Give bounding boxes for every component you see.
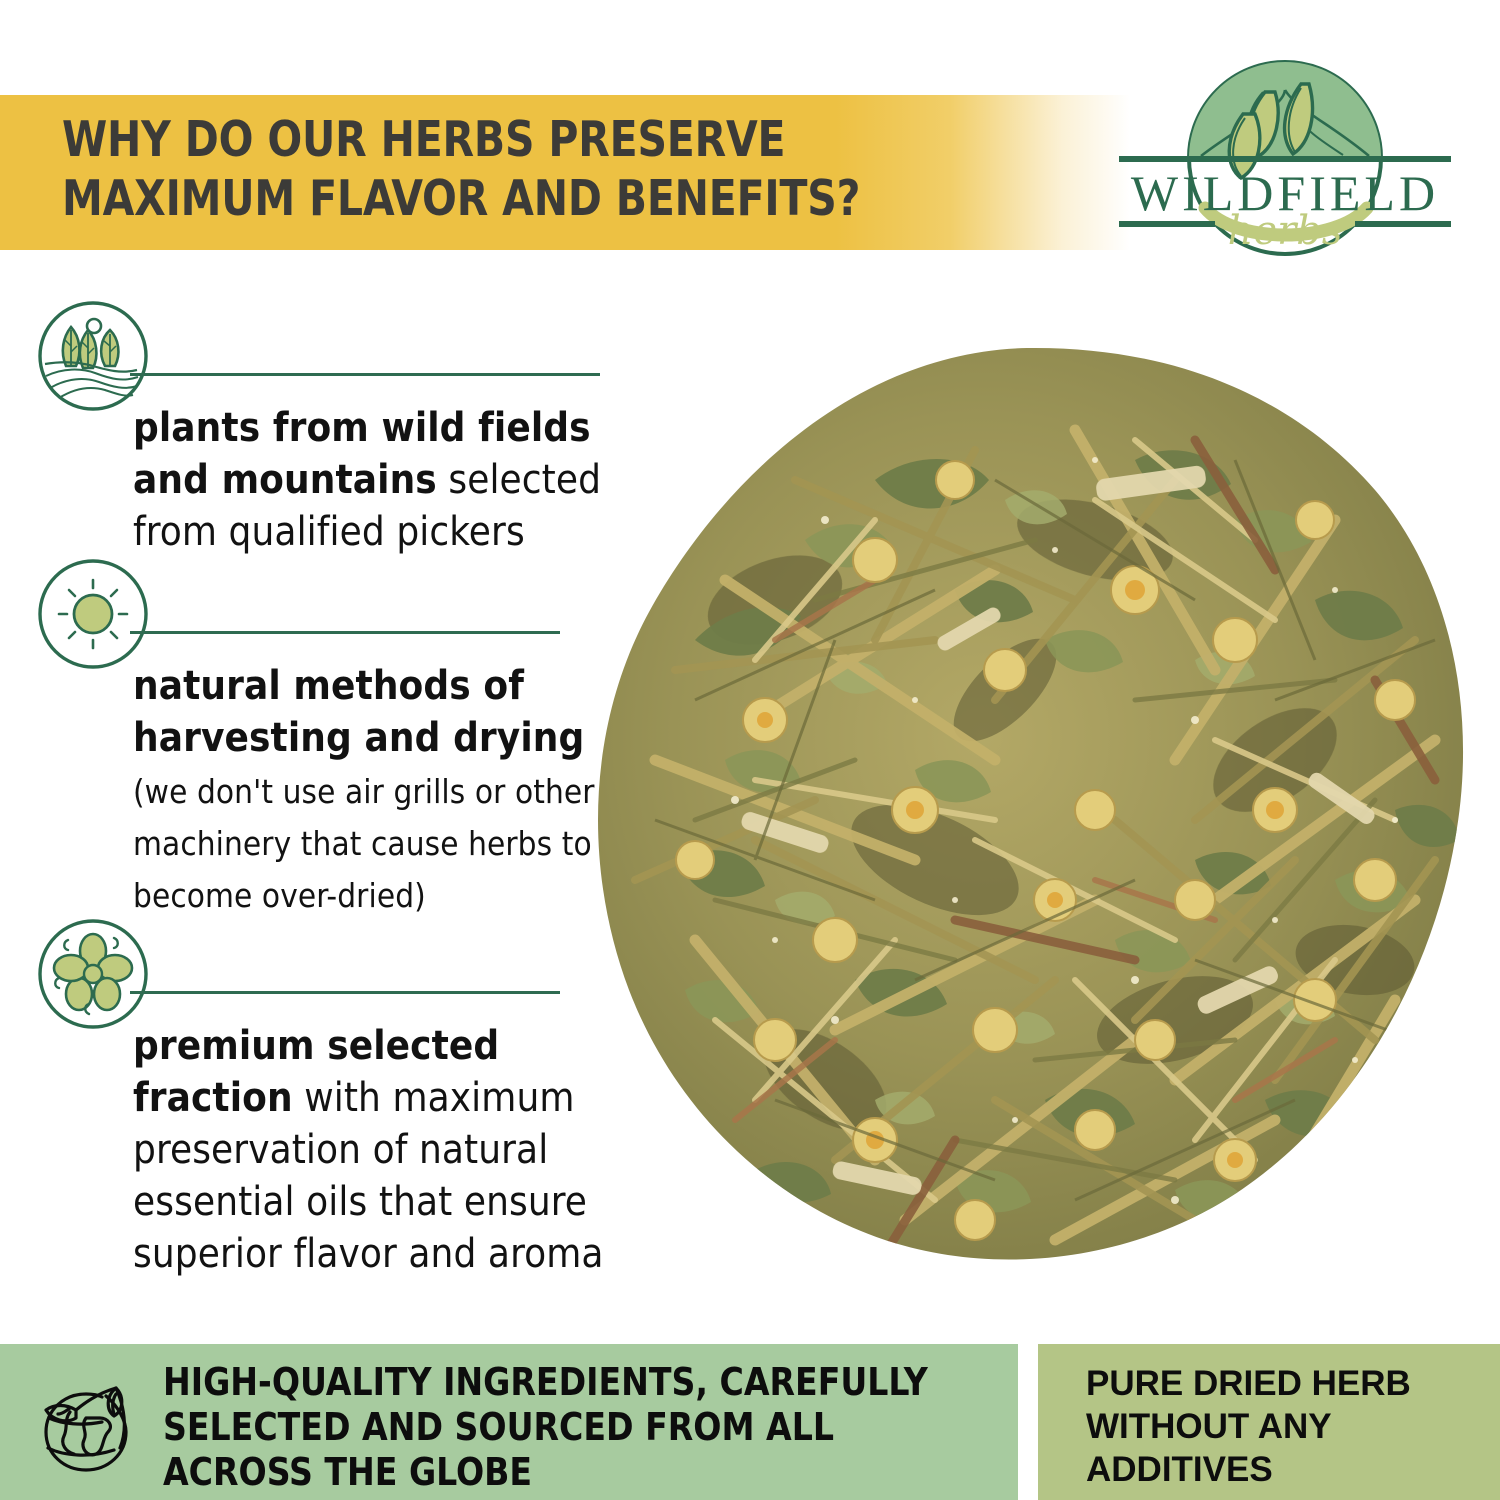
infographic-page: WHY DO OUR HERBS PRESERVE MAXIMUM FLAVOR… — [0, 0, 1500, 1500]
feature-text-3: premium selected fraction with maximum p… — [133, 1020, 643, 1280]
sun-drying-icon — [37, 558, 149, 670]
feature-lead-2: natural methods of harvesting and drying — [133, 663, 584, 761]
banner-pure-dried-herb: PURE DRIED HERB WITHOUT ANY ADDITIVES — [1038, 1344, 1500, 1500]
logo-script: herbs — [1228, 208, 1343, 254]
globe-leaf-icon — [32, 1366, 144, 1478]
feature-note-2: (we don't use air grills or other machin… — [133, 772, 595, 915]
page-title: WHY DO OUR HERBS PRESERVE MAXIMUM FLAVOR… — [62, 110, 992, 228]
dried-herb-pile-photo — [575, 340, 1480, 1285]
flower-essential-oil-icon — [37, 918, 149, 1030]
banner-high-quality-ingredients: HIGH-QUALITY INGREDIENTS, CAREFULLY SELE… — [0, 1344, 1018, 1500]
banner-left-text: HIGH-QUALITY INGREDIENTS, CAREFULLY SELE… — [163, 1360, 978, 1495]
feature-list: plants from wild fields and mountains se… — [0, 290, 650, 1300]
feature-divider — [130, 631, 560, 634]
feature-text-2: natural methods of harvesting and drying… — [133, 660, 643, 920]
brand-logo: WILDFIELD herbs — [1105, 38, 1465, 283]
wild-field-hills-icon — [37, 300, 149, 412]
feature-text-1: plants from wild fields and mountains se… — [133, 402, 643, 558]
banner-right-text: PURE DRIED HERB WITHOUT ANY ADDITIVES — [1086, 1362, 1486, 1491]
feature-divider — [130, 373, 600, 376]
feature-divider — [130, 991, 560, 994]
